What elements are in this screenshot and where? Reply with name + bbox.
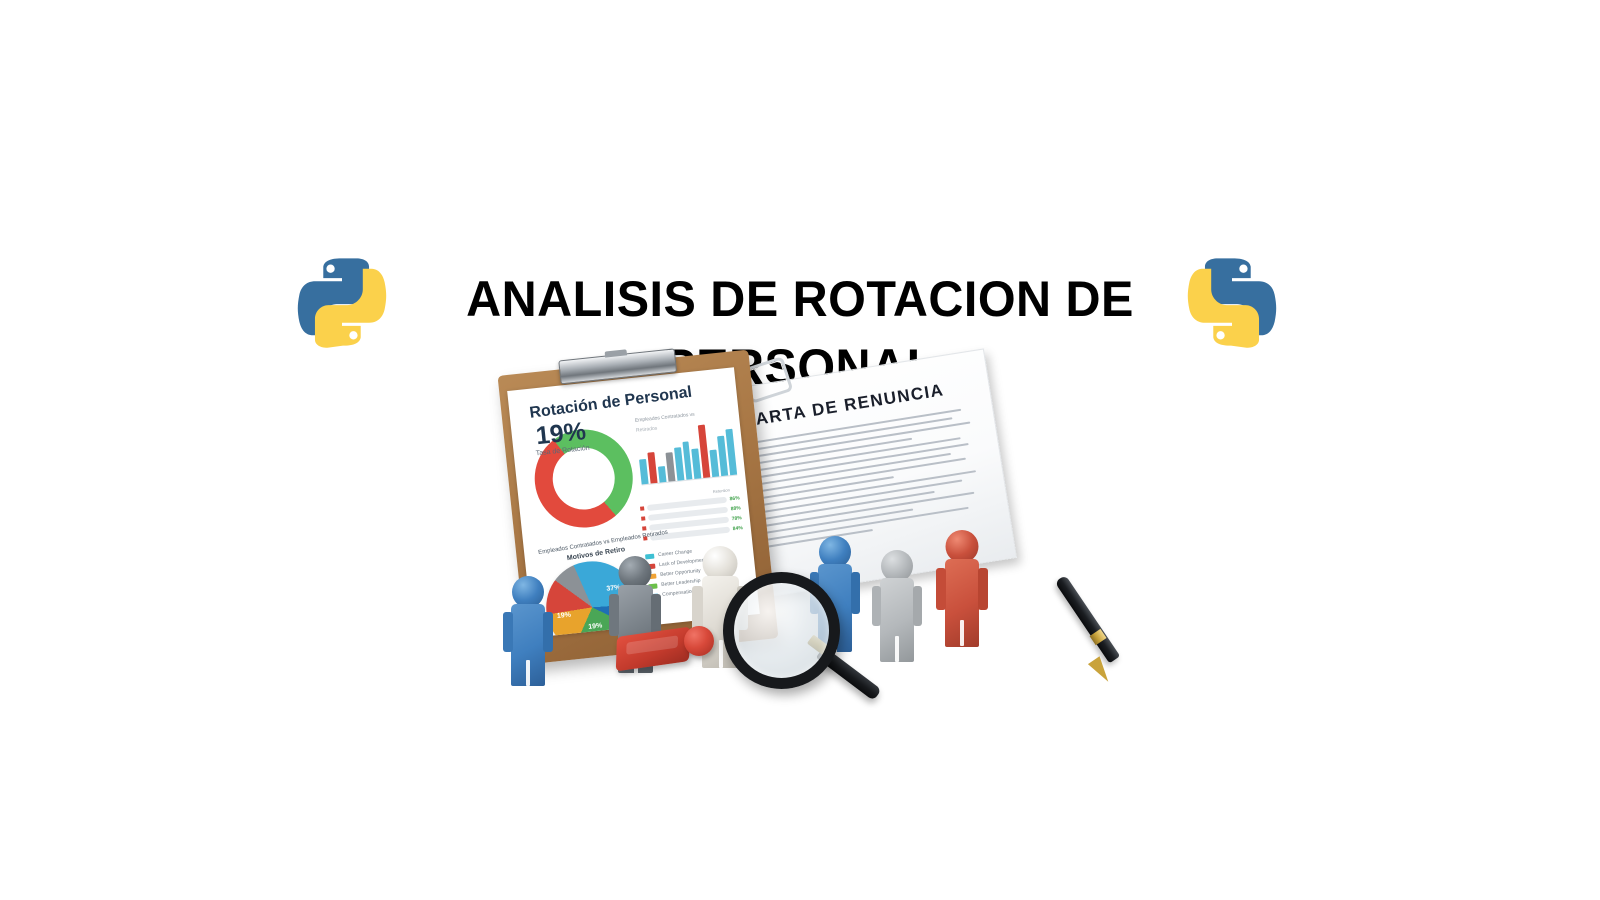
figurine-gray-right	[872, 550, 922, 664]
progress-marker-icon	[640, 506, 644, 510]
pie-slice-label-4: 19%	[557, 612, 572, 620]
progress-value: 86%	[729, 495, 740, 502]
retention-header: Retention	[713, 487, 731, 494]
title-header: ANALISIS DE ROTACION DE PERSONAL	[0, 120, 1600, 300]
bar-4	[665, 452, 675, 482]
hires-vs-exits-bar-chart: Empleados Contratados vs Retirados	[633, 408, 741, 498]
python-logo-right	[1180, 250, 1284, 354]
progress-value: 88%	[730, 505, 741, 512]
python-logo-left	[290, 250, 394, 354]
progress-marker-icon	[642, 526, 646, 530]
progress-value: 84%	[733, 525, 744, 532]
bar-1	[639, 459, 648, 484]
figurine-red-right	[936, 530, 988, 650]
progress-value: 78%	[731, 515, 742, 522]
title-line-1: ANALISIS DE ROTACION DE	[431, 265, 1168, 333]
hero-illustration: CARTA DE RENUNCIA	[440, 340, 1160, 700]
pie-slice-label-3: 19%	[588, 622, 603, 630]
legend-label: Career Change	[658, 549, 693, 559]
bar-3	[658, 466, 667, 483]
legend-label: Compensation	[662, 589, 695, 598]
figurine-blue-left	[502, 576, 554, 688]
bar-6	[682, 442, 693, 480]
bar-series	[636, 421, 737, 486]
slide-canvas: ANALISIS DE ROTACION DE PERSONAL CARTA D…	[0, 0, 1600, 900]
fountain-pen-body	[1055, 575, 1121, 664]
retention-progress-group: Retention 86%88%78%84%	[640, 495, 744, 545]
magnifying-glass-lens	[723, 572, 840, 689]
bar-9	[710, 449, 720, 477]
bar-chart-title: Empleados Contratados vs	[635, 412, 695, 424]
progress-marker-icon	[641, 516, 645, 520]
figurine-fallen-red-head	[684, 626, 714, 656]
bar-2	[647, 452, 657, 484]
bar-5	[674, 447, 684, 481]
